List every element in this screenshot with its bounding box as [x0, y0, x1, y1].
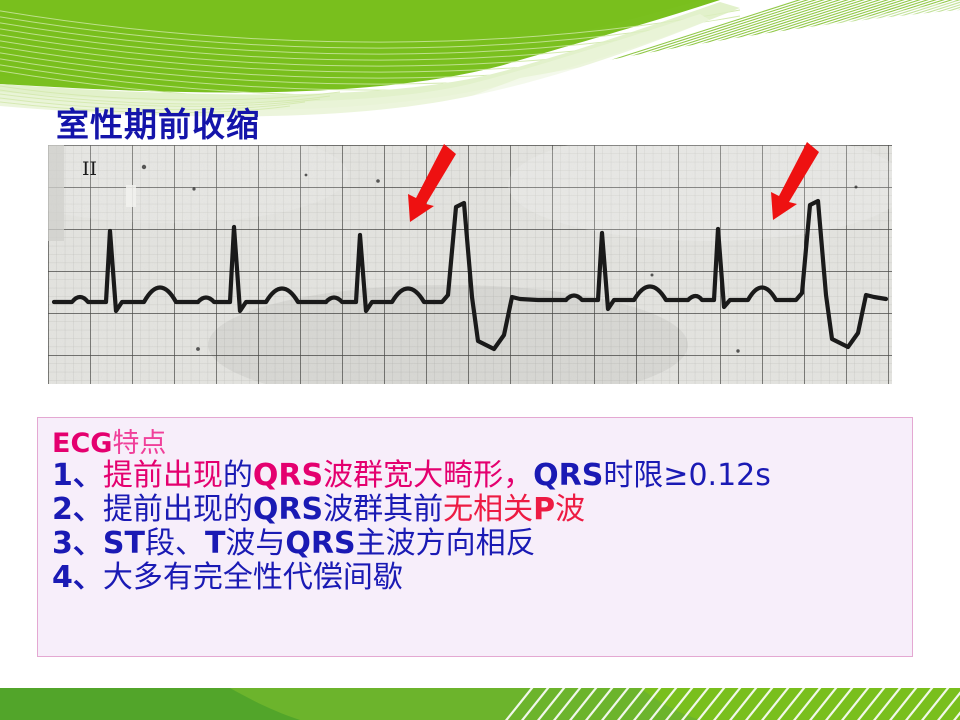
item-4-seg-1: 大多有完全性代偿间歇: [103, 560, 403, 595]
pvc-annotation-arrow-2: [763, 140, 823, 222]
item-3-number: 3、: [52, 526, 103, 561]
item-2-seg-4: 无相关: [443, 492, 533, 527]
item-3-seg-6: 主波方向相反: [356, 526, 536, 561]
item-3-seg-5: QRS: [285, 526, 355, 561]
item-1-seg-2: 的: [223, 458, 253, 493]
feature-item-2: 2、提前出现的QRS波群其前无相关P波: [52, 495, 912, 525]
ecg-lead-label: II: [82, 158, 97, 180]
item-3-seg-4: 波与: [225, 526, 285, 561]
item-2-seg-3: 波群其前: [323, 492, 443, 527]
feature-item-3: 3、ST段、T波与QRS主波方向相反: [52, 529, 912, 559]
item-1-seg-1: 提前出现: [103, 458, 223, 493]
item-3-seg-1: ST: [103, 526, 145, 561]
item-2-seg-1: 提前出现的: [103, 492, 253, 527]
item-1-seg-3: QRS: [253, 458, 323, 493]
feature-item-4: 4、大多有完全性代偿间歇: [52, 563, 912, 593]
item-1-seg-6: 时限≥0.12s: [603, 458, 771, 493]
ecg-features-textbox: ECG特点 1、提前出现的QRS波群宽大畸形，QRS时限≥0.12s 2、提前出…: [37, 417, 913, 657]
item-4-number: 4、: [52, 560, 103, 595]
item-3-seg-2: 段、: [145, 526, 205, 561]
bottom-green-footer-decoration: [0, 688, 960, 720]
pvc-annotation-arrow-1: [400, 142, 460, 224]
heading-cn-label: 特点: [112, 428, 166, 459]
item-1-seg-5: QRS: [533, 458, 603, 493]
item-2-number: 2、: [52, 492, 103, 527]
slide-canvas: 室性期前收缩: [0, 0, 960, 720]
item-2-seg-5: P: [533, 492, 555, 527]
item-1-seg-4: 波群宽大畸形，: [323, 458, 533, 493]
textbox-heading: ECG特点: [52, 430, 912, 457]
item-2-seg-6: 波: [555, 492, 585, 527]
feature-item-1: 1、提前出现的QRS波群宽大畸形，QRS时限≥0.12s: [52, 461, 912, 491]
item-3-seg-3: T: [205, 526, 225, 561]
heading-ecg-label: ECG: [52, 428, 112, 459]
page-title: 室性期前收缩: [56, 98, 260, 146]
item-1-number: 1、: [52, 458, 103, 493]
item-2-seg-2: QRS: [253, 492, 323, 527]
